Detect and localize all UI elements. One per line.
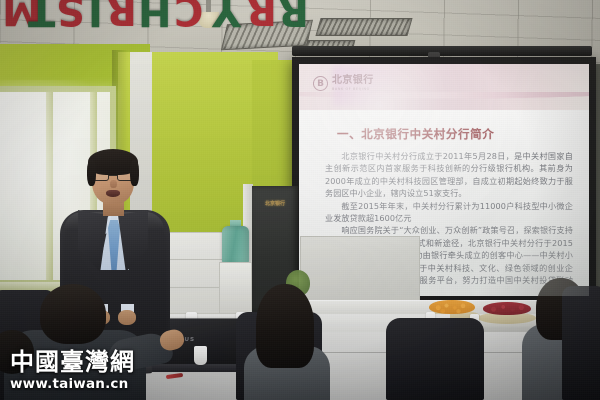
presenter-hand [118,310,136,325]
presentation-photo-scene: MTSIRHCYRR B 北京银行 BANK OF BEIJING 一、北京银行… [0,0,600,400]
banner-letter: Y [212,0,241,31]
slide-title: 一、北京银行中关村分行简介 [337,126,494,142]
banner-letter: R [106,0,137,30]
office-chair [562,286,600,400]
projection-screen-roller [292,46,592,56]
window-mullion [46,92,53,280]
banner-letter: T [28,0,55,31]
presenter-hair-side [130,160,139,186]
slide-paragraph: 截至2015年年末，中关村分行累计为11000户科技型中小微企业发放贷款超160… [325,200,573,225]
bank-logo-name-cn: 北京银行 [332,76,374,86]
watermark-site-name: 中國臺灣網 [10,350,135,374]
office-chair [386,318,484,400]
orange-fruit-pile [429,300,475,314]
watermark-site-url: www.taiwan.cn [10,378,135,392]
water-cooler-bottle [222,226,249,264]
banner-letter: I [88,0,103,31]
watermark: 中國臺灣網 www.taiwan.cn [10,350,135,392]
bank-logo-emblem-icon: B [313,76,328,91]
banner-letter: C [174,0,203,30]
banner-letter: R [246,0,277,30]
banner-letter: H [138,0,171,31]
presenter-hair-side [87,160,96,186]
back-wall-panel [300,236,420,302]
water-cooler-body[interactable] [219,262,252,314]
eyeglass-bridge [109,175,117,176]
presenter-mouth [106,190,120,197]
christmas-banner: MTSIRHCYRR [0,0,330,38]
paper-cup [194,346,207,365]
attendee-head [256,284,314,368]
bank-logo: B 北京银行 BANK OF BEIJING [313,76,374,91]
banner-letter: R [278,0,309,31]
bank-logo-name-en: BANK OF BEIJING [332,88,374,91]
red-fruit-pile [483,302,531,315]
banner-letter: S [56,0,85,30]
slide-paragraph: 北京银行中关村分行成立于2011年5月28日，是中关村国家自主创新示范区内首家服… [325,150,573,200]
laptop-base[interactable] [146,364,250,372]
presenter-nose [110,180,117,188]
attendee-head [40,284,106,344]
cabinet-signage-text: 北京银行 [265,202,285,208]
